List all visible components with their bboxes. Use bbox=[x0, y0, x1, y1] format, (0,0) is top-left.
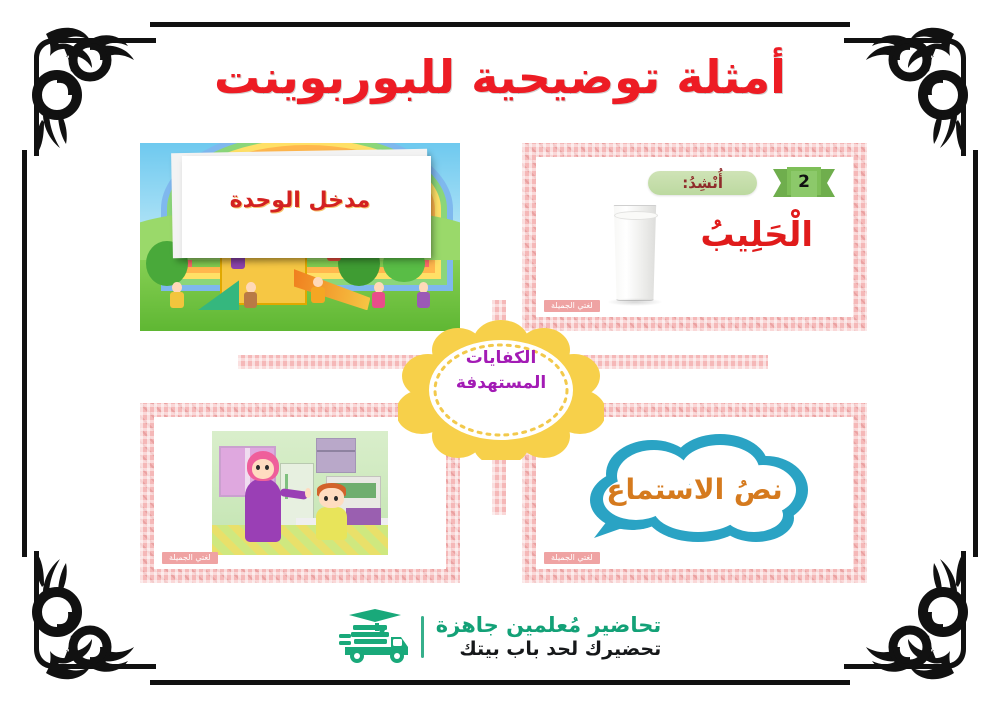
glass-of-milk-icon bbox=[612, 205, 658, 301]
prompt-pill-label: أُنْشِدُ: bbox=[648, 171, 757, 195]
child-figure bbox=[169, 282, 186, 314]
page-title: أمثلة توضيحية للبوربوينت bbox=[0, 52, 1000, 103]
child-figure bbox=[370, 282, 387, 314]
center-flower-badge[interactable]: الكفايات المستهدفة bbox=[398, 320, 604, 460]
footer-logo: تحاضير مُعلمين جاهزة تحضيرك لحد باب بيتك bbox=[0, 609, 1000, 665]
slide-milk-content: أُنْشِدُ: 2 الْحَلِيبُ لغتي الجميلة bbox=[536, 157, 853, 317]
lesson-number-ribbon: 2 bbox=[773, 167, 835, 199]
footer-text: تحاضير مُعلمين جاهزة تحضيرك لحد باب بيتك bbox=[436, 612, 661, 662]
language-tag: لغتي الجميلة bbox=[544, 552, 600, 564]
child-figure bbox=[415, 282, 432, 314]
boy-figure bbox=[314, 483, 349, 540]
listening-text-label: نصُ الاستماع bbox=[570, 473, 820, 506]
child-figure bbox=[242, 282, 259, 314]
lesson-number: 2 bbox=[773, 172, 835, 192]
language-tag: لغتي الجميلة bbox=[162, 552, 218, 564]
footer-divider bbox=[421, 616, 424, 658]
frame-edge-right bbox=[973, 150, 978, 557]
cloud-bubble-icon: نصُ الاستماع bbox=[570, 430, 820, 550]
center-label-line1: الكفايات bbox=[398, 346, 604, 371]
center-label-line2: المستهدفة bbox=[398, 371, 604, 396]
slide-unit-entrance[interactable]: مدخل الوحدة bbox=[140, 143, 460, 331]
slide-unit-caption: مدخل الوحدة bbox=[140, 188, 460, 213]
kitchen-illustration bbox=[212, 431, 388, 555]
cabinet bbox=[316, 438, 357, 472]
milk-word: الْحَلِيبُ bbox=[700, 215, 813, 255]
kitchen-floor bbox=[212, 525, 388, 555]
frame-edge-bottom bbox=[150, 680, 850, 685]
cupboard bbox=[346, 508, 381, 525]
footer-line-2: تحضيرك لحد باب بيتك bbox=[436, 638, 661, 662]
mother-figure bbox=[240, 451, 286, 540]
language-tag: لغتي الجميلة bbox=[544, 300, 600, 312]
playground-illustration: مدخل الوحدة bbox=[140, 143, 460, 331]
child-figure bbox=[310, 277, 327, 309]
delivery-truck-icon bbox=[339, 609, 409, 665]
center-flower-label: الكفايات المستهدفة bbox=[398, 346, 604, 395]
poster-page: أمثلة توضيحية للبوربوينت bbox=[0, 0, 1000, 707]
footer-line-1: تحاضير مُعلمين جاهزة bbox=[436, 612, 661, 638]
frame-edge-left bbox=[22, 150, 27, 557]
slide-milk[interactable]: أُنْشِدُ: 2 الْحَلِيبُ لغتي الجميلة bbox=[522, 143, 867, 331]
frame-edge-top bbox=[150, 22, 850, 27]
